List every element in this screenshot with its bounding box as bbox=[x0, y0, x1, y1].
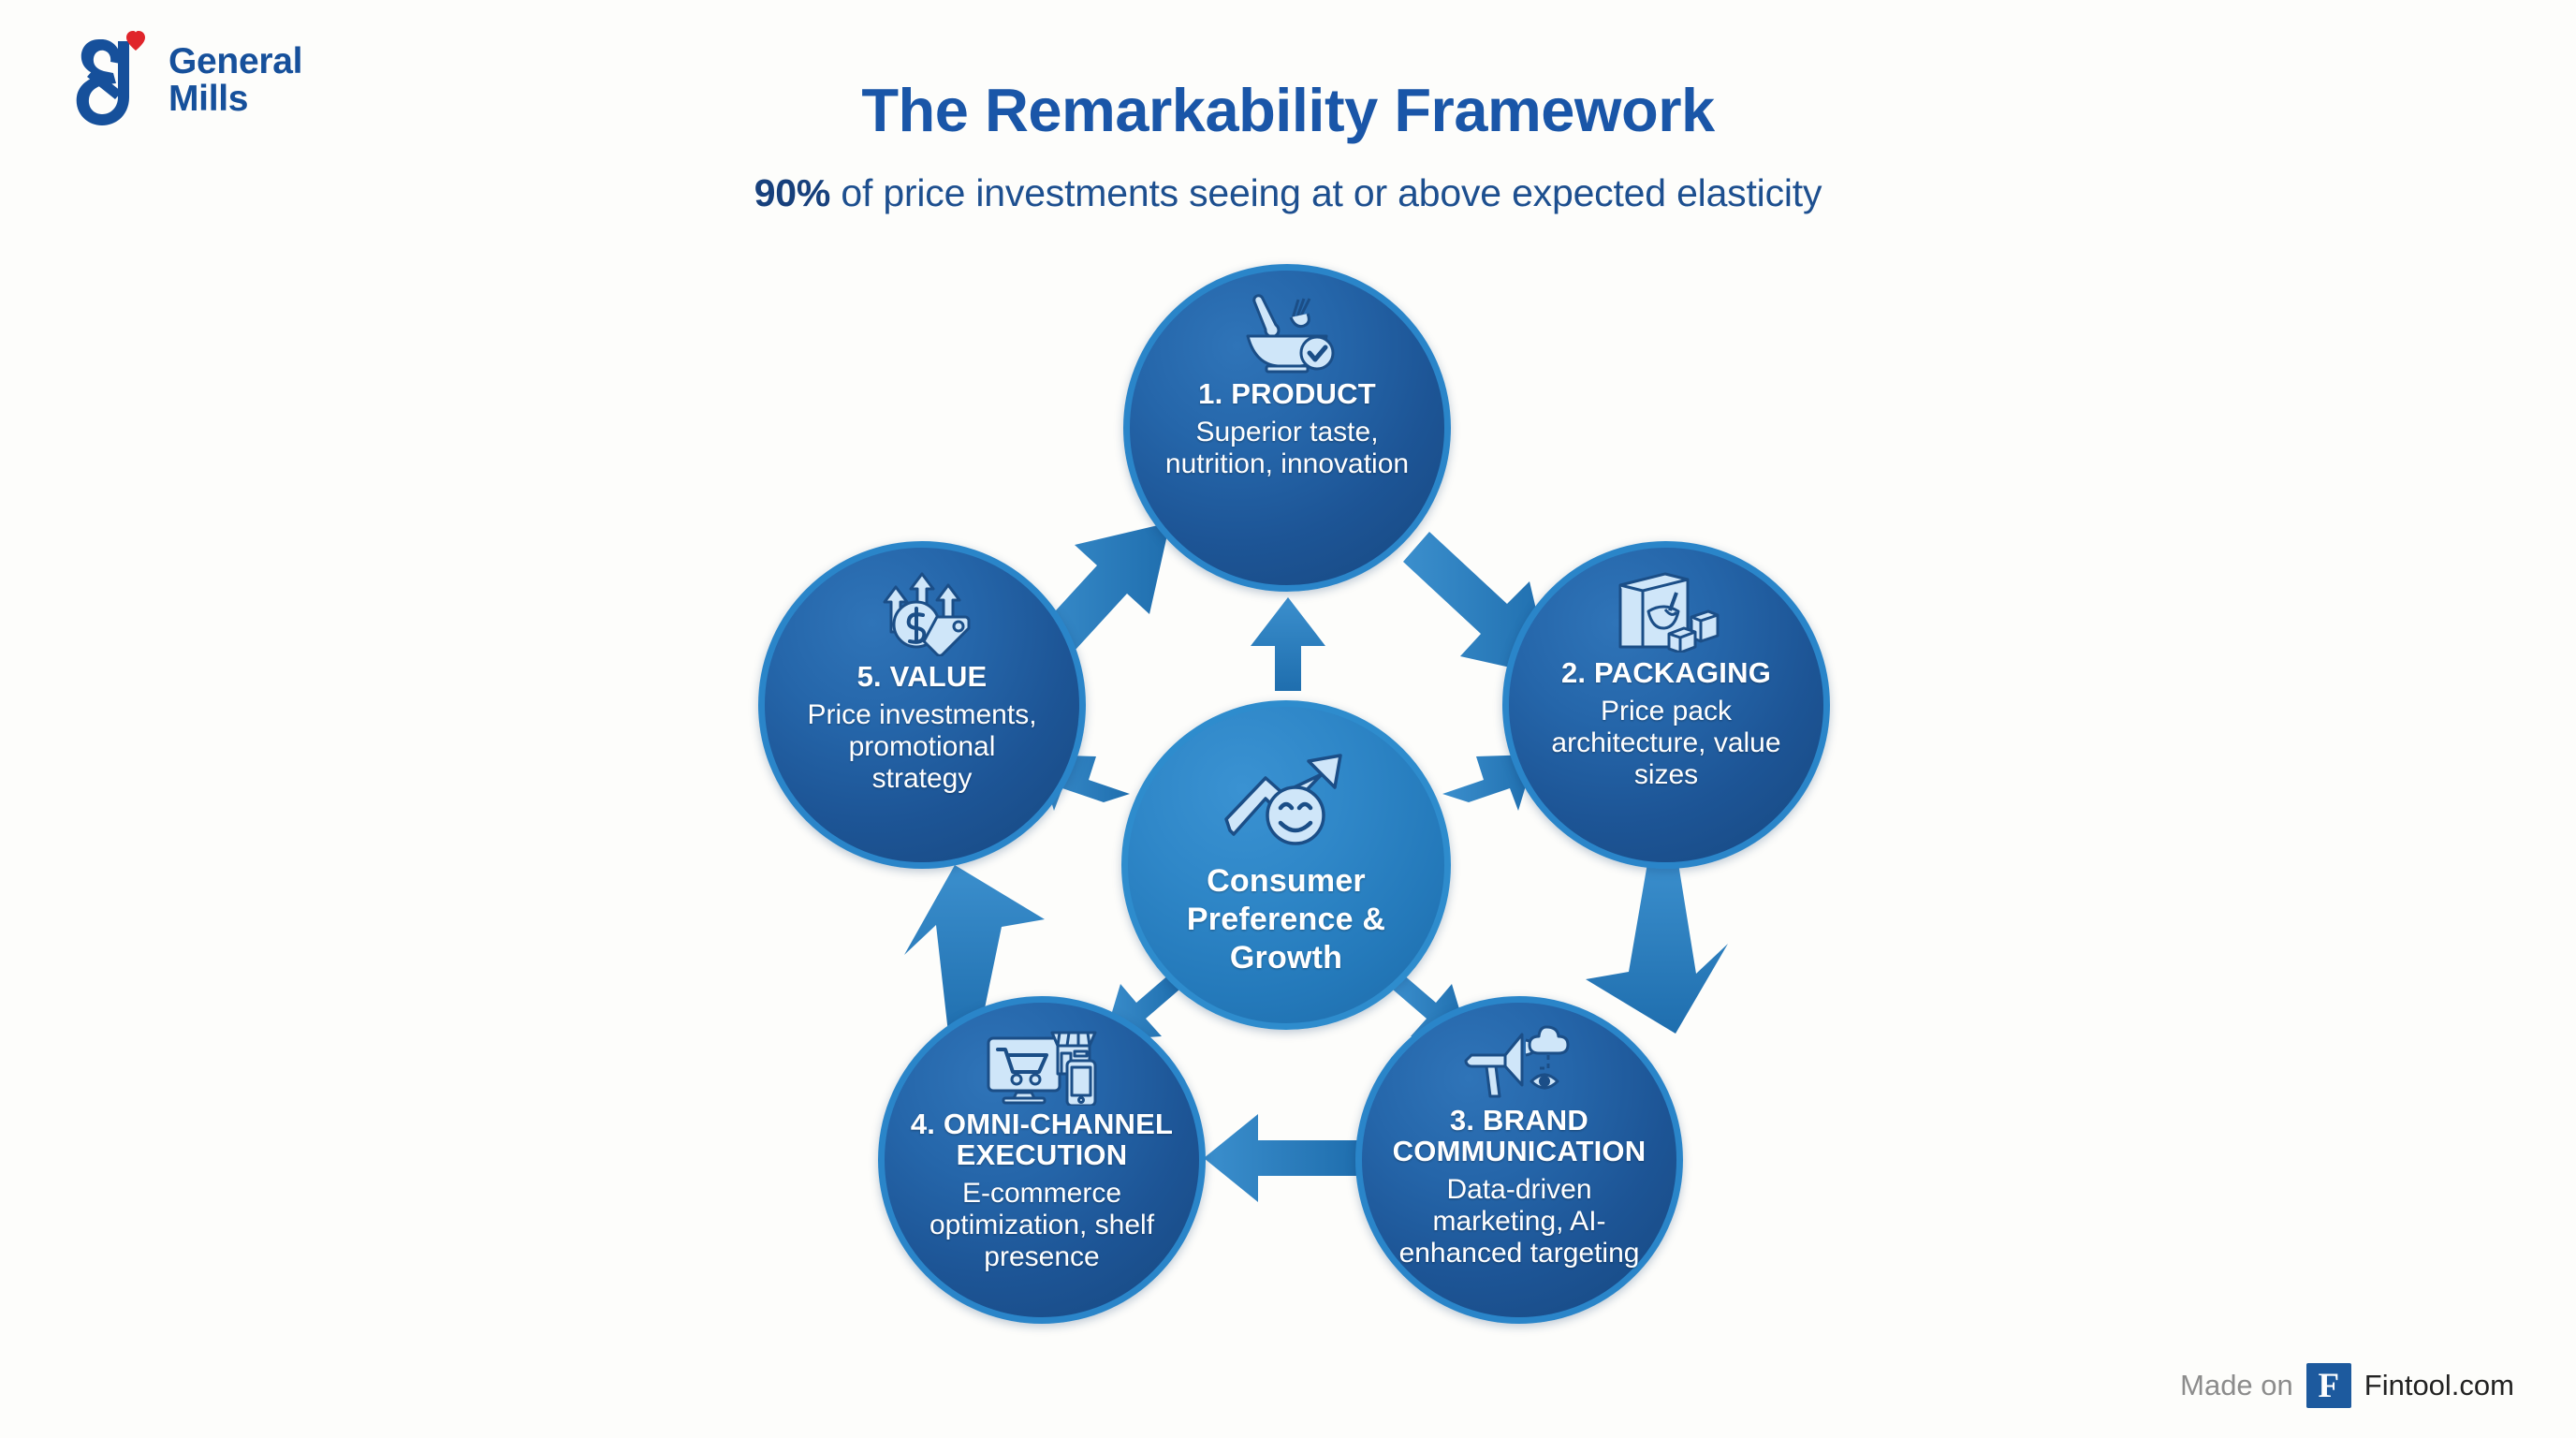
node-value[interactable]: 5. VALUE Price investments, promotional … bbox=[758, 541, 1086, 869]
node-product[interactable]: 1. PRODUCT Superior taste, nutrition, in… bbox=[1123, 264, 1451, 592]
node-center-label: Consumer Preference & Growth bbox=[1169, 862, 1403, 976]
fintool-domain: Fintool.com bbox=[2364, 1369, 2514, 1402]
node-brand-communication[interactable]: 3. BRAND COMMUNICATION Data-driven marke… bbox=[1355, 996, 1683, 1324]
up-arrows-dollar-tag-icon bbox=[868, 570, 976, 656]
growth-arrow-smiley-icon bbox=[1224, 750, 1348, 855]
node-omni-channel-execution[interactable]: 4. OMNI-CHANNEL EXECUTION E-commerce opt… bbox=[878, 996, 1206, 1324]
node-omni-channel-execution-title: 4. OMNI-CHANNEL EXECUTION bbox=[885, 1109, 1199, 1171]
node-value-desc: Price investments, promotional strategy bbox=[798, 699, 1046, 796]
fintool-logo-icon: F bbox=[2306, 1363, 2351, 1408]
node-omni-channel-execution-desc: E-commerce optimization, shelf presence bbox=[918, 1178, 1166, 1274]
arrow-packaging-to-brand bbox=[1586, 858, 1728, 1034]
arrow-center-to-product bbox=[1251, 597, 1325, 691]
node-brand-communication-desc: Data-driven marketing, AI-enhanced targe… bbox=[1396, 1174, 1644, 1270]
cereal-box-boxes-icon bbox=[1611, 570, 1721, 653]
node-product-title: 1. PRODUCT bbox=[1198, 379, 1376, 410]
node-center-consumer-preference-growth[interactable]: Consumer Preference & Growth bbox=[1121, 700, 1451, 1030]
node-product-desc: Superior taste, nutrition, innovation bbox=[1164, 417, 1412, 480]
megaphone-cloud-eye-icon bbox=[1464, 1023, 1574, 1102]
node-packaging-title: 2. PACKAGING bbox=[1561, 658, 1771, 689]
made-on-label: Made on bbox=[2180, 1369, 2293, 1402]
node-packaging[interactable]: 2. PACKAGING Price pack architecture, va… bbox=[1502, 541, 1830, 869]
node-packaging-desc: Price pack architecture, value sizes bbox=[1543, 696, 1791, 792]
made-on-fintool-footer: Made on F Fintool.com bbox=[2180, 1363, 2514, 1408]
remarkability-framework-diagram: 1. PRODUCT Superior taste, nutrition, in… bbox=[0, 0, 2576, 1438]
node-brand-communication-title: 3. BRAND COMMUNICATION bbox=[1362, 1106, 1676, 1167]
bowl-spoon-fork-check-icon bbox=[1235, 293, 1339, 374]
monitor-cart-store-phone-icon bbox=[985, 1023, 1099, 1106]
arrow-brand-to-omni bbox=[1204, 1114, 1359, 1202]
node-value-title: 5. VALUE bbox=[857, 662, 988, 693]
